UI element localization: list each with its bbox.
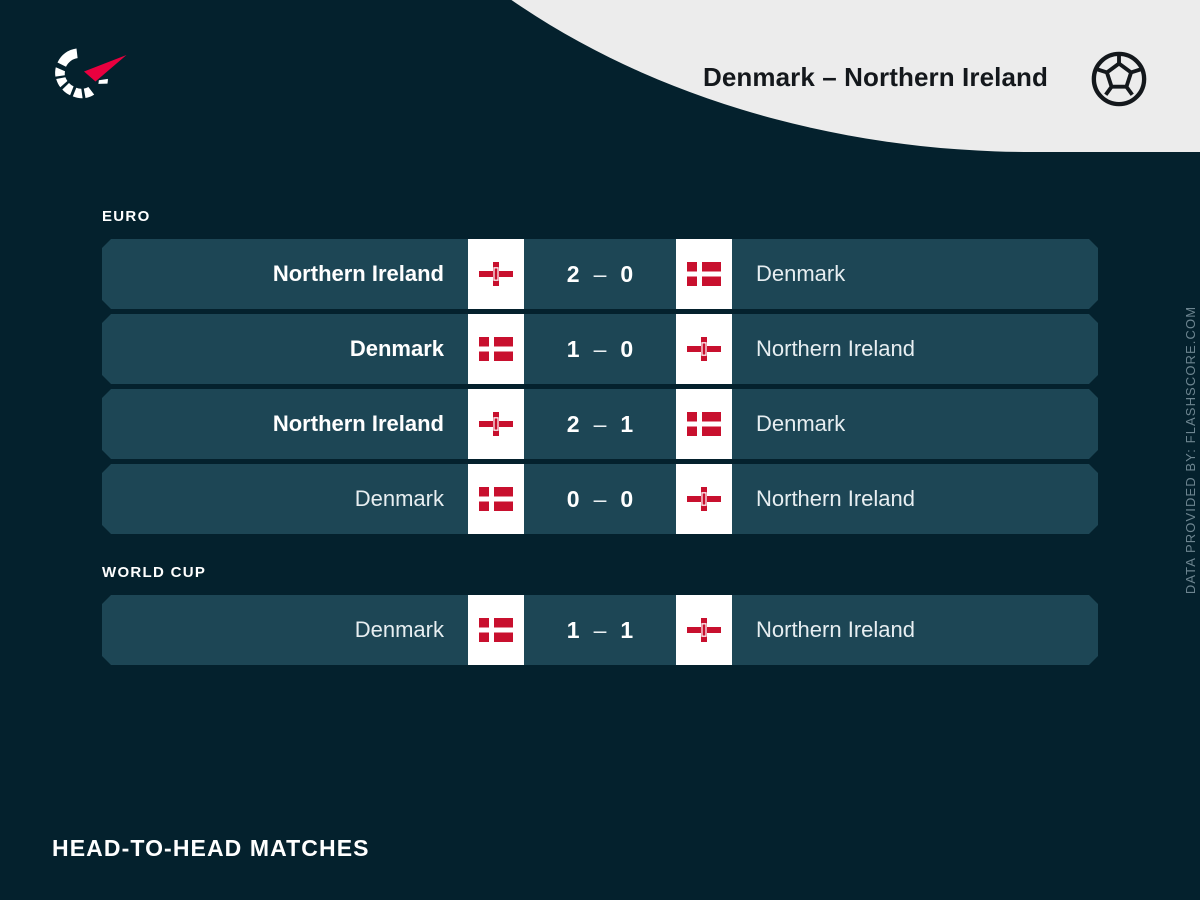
northern-ireland-flag (676, 464, 732, 534)
page-title: Denmark – Northern Ireland (703, 62, 1048, 93)
match-list: Northern Ireland2–0DenmarkDenmark1–0Nort… (102, 239, 1098, 534)
match-score: 2–1 (524, 389, 676, 459)
section-label: EURO (102, 208, 1200, 225)
northern-ireland-flag (676, 595, 732, 665)
home-team-name: Denmark (102, 314, 468, 384)
home-team-name: Northern Ireland (102, 389, 468, 459)
match-section: WORLD CUPDenmark1–1Northern Ireland (0, 564, 1200, 665)
score-separator: – (594, 336, 607, 363)
table-row[interactable]: Denmark0–0Northern Ireland (102, 464, 1098, 534)
away-team-name: Denmark (732, 239, 1098, 309)
home-team-name: Denmark (102, 595, 468, 665)
match-score: 1–1 (524, 595, 676, 665)
away-score: 1 (620, 617, 633, 644)
score-separator: – (594, 617, 607, 644)
match-score: 2–0 (524, 239, 676, 309)
score-separator: – (594, 261, 607, 288)
away-team-name: Denmark (732, 389, 1098, 459)
home-score: 2 (567, 261, 580, 288)
home-score: 1 (567, 336, 580, 363)
away-score: 1 (620, 411, 633, 438)
section-label: WORLD CUP (102, 564, 1200, 581)
head-to-head-card: Denmark – Northern Ireland DATA PROVIDED… (0, 0, 1200, 900)
table-row[interactable]: Denmark1–0Northern Ireland (102, 314, 1098, 384)
denmark-flag (468, 314, 524, 384)
table-row[interactable]: Denmark1–1Northern Ireland (102, 595, 1098, 665)
match-list: Denmark1–1Northern Ireland (102, 595, 1098, 665)
away-score: 0 (620, 486, 633, 513)
denmark-flag (676, 389, 732, 459)
match-sections: EURONorthern Ireland2–0DenmarkDenmark1–0… (0, 152, 1200, 670)
table-row[interactable]: Northern Ireland2–0Denmark (102, 239, 1098, 309)
match-score: 1–0 (524, 314, 676, 384)
footer-caption: HEAD-TO-HEAD MATCHES (52, 835, 370, 862)
header: Denmark – Northern Ireland (0, 0, 1200, 152)
denmark-flag (468, 595, 524, 665)
away-score: 0 (620, 261, 633, 288)
flashscore-logo (45, 40, 131, 108)
northern-ireland-flag (468, 239, 524, 309)
away-score: 0 (620, 336, 633, 363)
home-score: 2 (567, 411, 580, 438)
match-section: EURONorthern Ireland2–0DenmarkDenmark1–0… (0, 208, 1200, 534)
away-team-name: Northern Ireland (732, 314, 1098, 384)
home-score: 0 (567, 486, 580, 513)
northern-ireland-flag (676, 314, 732, 384)
away-team-name: Northern Ireland (732, 595, 1098, 665)
denmark-flag (676, 239, 732, 309)
match-score: 0–0 (524, 464, 676, 534)
soccer-ball-icon (1090, 50, 1148, 108)
table-row[interactable]: Northern Ireland2–1Denmark (102, 389, 1098, 459)
northern-ireland-flag (468, 389, 524, 459)
away-team-name: Northern Ireland (732, 464, 1098, 534)
home-team-name: Northern Ireland (102, 239, 468, 309)
home-score: 1 (567, 617, 580, 644)
denmark-flag (468, 464, 524, 534)
score-separator: – (594, 411, 607, 438)
home-team-name: Denmark (102, 464, 468, 534)
score-separator: – (594, 486, 607, 513)
